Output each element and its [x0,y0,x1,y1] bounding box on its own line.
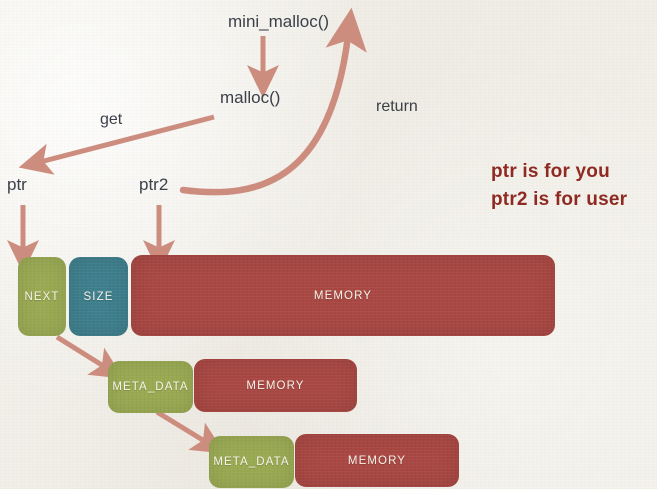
arrow-row2-to-row3 [157,412,206,442]
edge-label-return: return [376,99,418,115]
paper-texture-overlay [0,0,657,489]
node-mini-malloc: mini_malloc() [228,13,329,30]
node-ptr: ptr [7,176,27,193]
note-ptr2-is-for-user: ptr2 is for user [491,188,627,212]
memory-block-label: META_DATA [213,456,289,468]
memory-block-label: META_DATA [112,381,188,393]
edge-label-get: get [100,112,122,128]
memory-block-memory-r1: MEMORY [131,255,555,336]
memory-block-label: MEMORY [246,380,304,392]
node-ptr2: ptr2 [139,176,168,193]
arrow-layer [0,0,657,489]
memory-block-label: NEXT [24,291,59,303]
memory-block-memory-r3: MEMORY [295,434,459,487]
memory-block-label: MEMORY [348,455,406,467]
memory-block-meta-data-r3: META_DATA [209,436,294,488]
note-ptr-is-for-you: ptr is for you [491,160,610,184]
memory-block-size-r1: SIZE [69,257,128,336]
node-malloc: malloc() [220,89,280,106]
memory-block-next-r1: NEXT [18,257,66,336]
arrow-next-to-row2 [57,337,105,367]
memory-block-label: MEMORY [314,290,372,302]
memory-block-memory-r2: MEMORY [194,359,357,412]
arrow-malloc-to-ptr [40,117,214,162]
memory-block-label: SIZE [84,291,114,303]
memory-block-meta-data-r2: META_DATA [108,361,193,413]
diagram-canvas: mini_malloc() malloc() ptr ptr2 get retu… [0,0,657,489]
arrow-ptr2-return-to-minimalloc [183,36,348,192]
